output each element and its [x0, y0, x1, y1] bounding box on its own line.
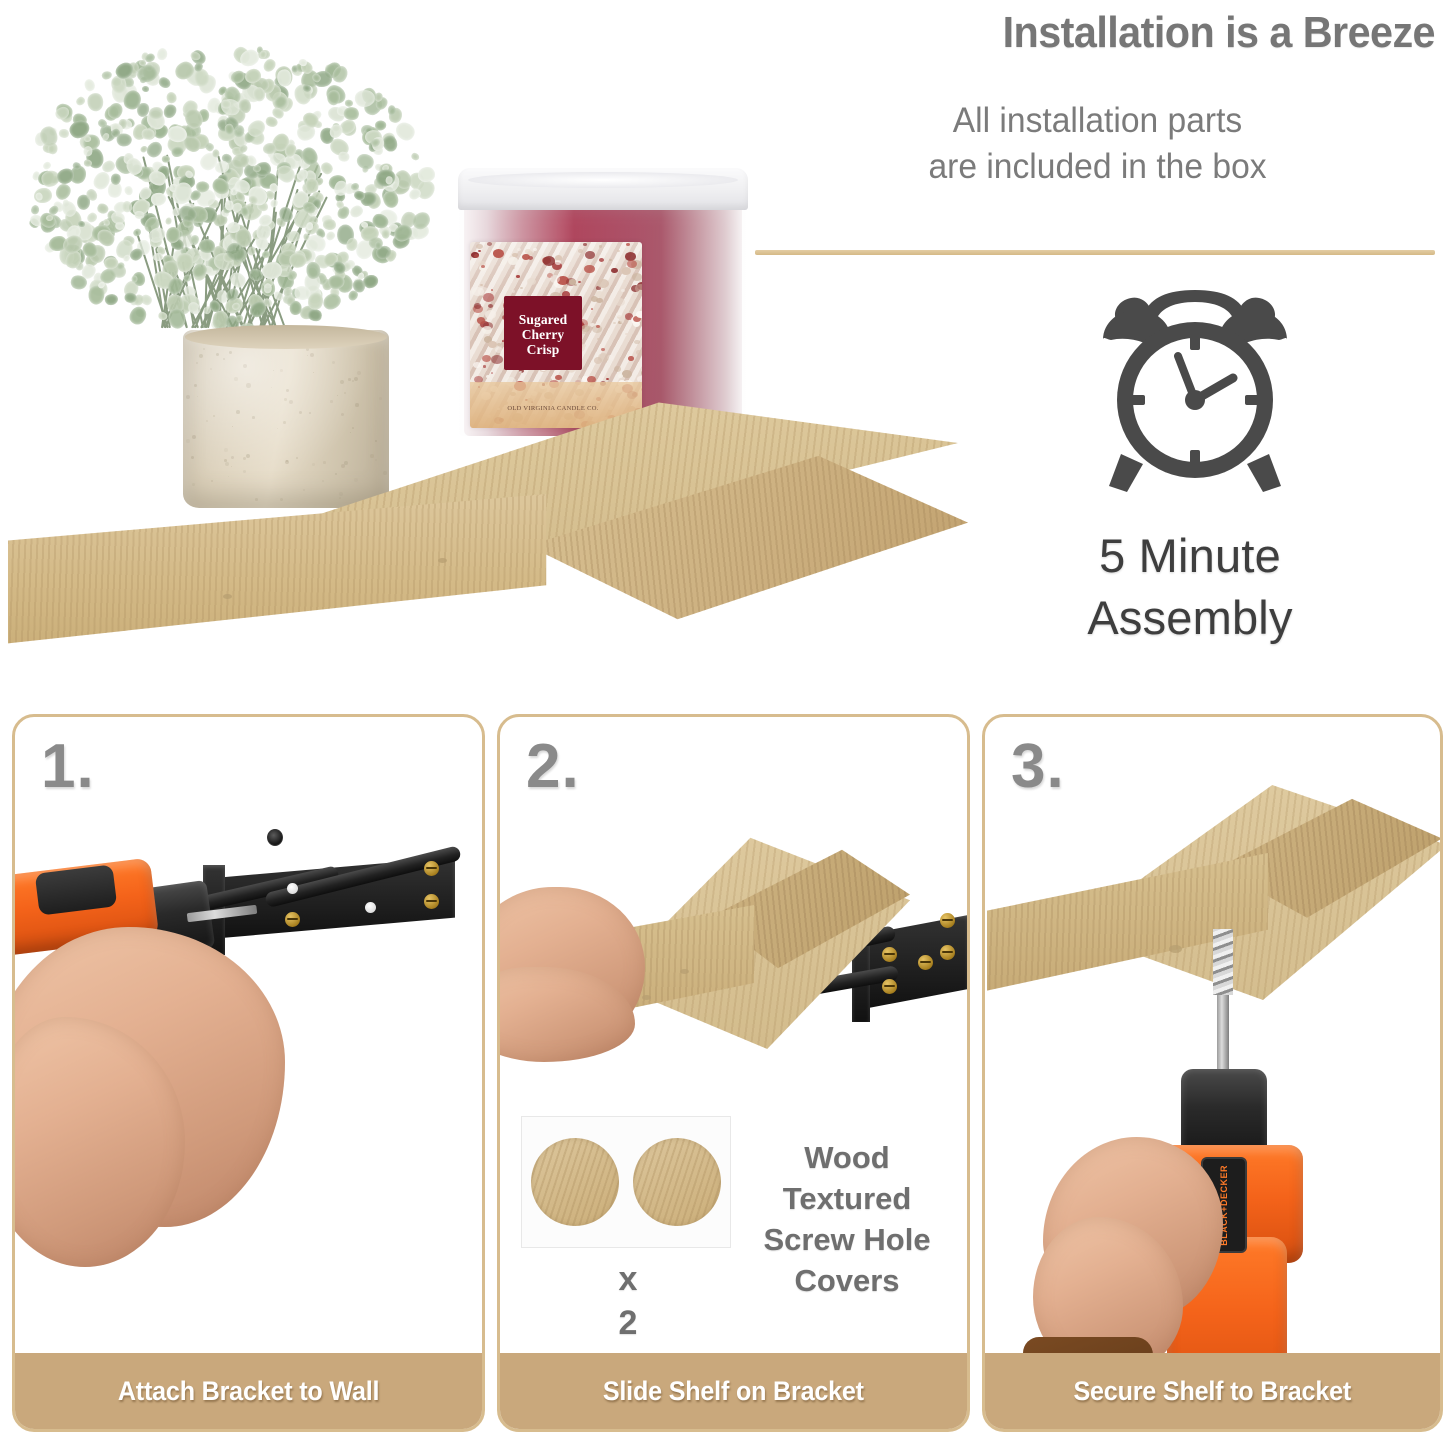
step-caption-1-text: Attach Bracket to Wall [118, 1376, 379, 1407]
bracket-screw [918, 955, 933, 970]
step-panel-3: 3. BLACK+DECKER [982, 714, 1443, 1432]
divider [755, 250, 1435, 255]
step-caption-2: Slide Shelf on Bracket [500, 1353, 967, 1429]
bracket-screw [285, 912, 300, 927]
installation-steps: 1. [0, 714, 1445, 1438]
candle-name-line2: Cherry [522, 327, 565, 342]
bracket-screw [424, 894, 439, 909]
wood-textured-cover [531, 1138, 619, 1226]
assembly-time-line1: 5 Minute [965, 525, 1415, 587]
step-panel-1: 1. [12, 714, 485, 1432]
step-caption-2-text: Slide Shelf on Bracket [603, 1376, 864, 1407]
assembly-time-line2: Assembly [965, 587, 1415, 649]
note-line3: Screw Hole [732, 1219, 962, 1260]
hero-text-block: Installation is a Breeze All installatio… [700, 0, 1445, 300]
hero-subtitle: All installation parts are included in t… [774, 98, 1422, 190]
step-panel-2: 2. [497, 714, 970, 1432]
bracket-hole [365, 902, 376, 913]
note-line4: Covers [732, 1260, 962, 1301]
step-caption-1: Attach Bracket to Wall [15, 1353, 482, 1429]
bracket-screw [940, 945, 955, 960]
step-number-2: 2. [526, 731, 580, 802]
bracket-screw [940, 913, 955, 928]
hero-subtitle-line2: are included in the box [774, 144, 1422, 190]
rod-end-cap [267, 829, 283, 846]
wood-textured-cover [633, 1138, 721, 1226]
shelf-screw-hole [642, 995, 651, 1000]
shelf-screw-hole [680, 969, 689, 974]
assembly-time-text: 5 Minute Assembly [965, 525, 1415, 649]
candle-name-line1: Sugared [519, 312, 567, 327]
shelf-screw-hole [438, 558, 447, 563]
step-caption-3: Secure Shelf to Bracket [985, 1353, 1440, 1429]
qty-number: 2 [588, 1301, 668, 1345]
alarm-clock-icon [1075, 278, 1315, 508]
cover-note: Wood Textured Screw Hole Covers [732, 1137, 962, 1301]
floating-wood-shelf [8, 398, 958, 660]
page-title: Installation is a Breeze [744, 8, 1435, 58]
bracket-hole [287, 883, 298, 894]
assembly-time-block: 5 Minute Assembly [955, 270, 1445, 690]
note-line2: Textured [732, 1178, 962, 1219]
shelf-screw-hole [1169, 945, 1182, 953]
step-caption-3-text: Secure Shelf to Bracket [1074, 1376, 1352, 1407]
qty-x: x [588, 1257, 668, 1301]
step-number-1: 1. [41, 731, 95, 802]
foliage [5, 8, 435, 358]
hero-subtitle-line1: All installation parts [774, 98, 1422, 144]
hero-section: Sugared Cherry Crisp scented candle OLD … [0, 0, 1445, 700]
shelf-screw-hole [223, 594, 232, 599]
cover-quantity: x 2 [588, 1257, 668, 1345]
wood-cover-photo [522, 1117, 730, 1247]
note-line1: Wood [732, 1137, 962, 1178]
driven-screw [1213, 929, 1233, 995]
drill-bit [1217, 987, 1229, 1077]
candle-label-box: Sugared Cherry Crisp scented candle [504, 296, 582, 370]
infographic-page: Sugared Cherry Crisp scented candle OLD … [0, 0, 1445, 1438]
bracket-screw [424, 861, 439, 876]
candle-name-line3: Crisp [527, 342, 560, 357]
